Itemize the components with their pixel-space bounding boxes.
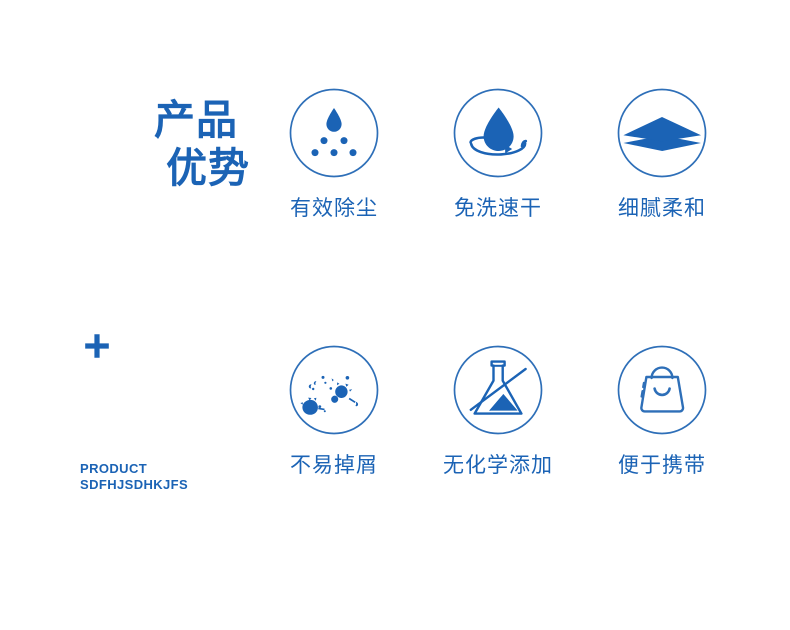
droplet-orbit-icon bbox=[453, 88, 543, 178]
feature-label: 无化学添加 bbox=[428, 453, 568, 479]
product-code: PRODUCT SDFHJSDHKJFS bbox=[80, 461, 188, 493]
feature-label: 有效除尘 bbox=[264, 196, 404, 222]
feature-label: 细腻柔和 bbox=[592, 196, 732, 222]
droplet-dots-icon bbox=[289, 88, 379, 178]
feature-label: 便于携带 bbox=[592, 453, 732, 479]
stacked-sheets-icon bbox=[617, 88, 707, 178]
feature-label: 免洗速干 bbox=[428, 196, 568, 222]
feature-label: 不易掉屑 bbox=[264, 453, 404, 479]
feature-portable: 便于携带 bbox=[592, 345, 732, 479]
feature-no-chemicals: 无化学添加 bbox=[428, 345, 568, 479]
handbag-icon bbox=[617, 345, 707, 435]
page-title: 产品 优势 bbox=[152, 96, 262, 192]
product-code-line-2: SDFHJSDHKJFS bbox=[80, 477, 188, 493]
product-advantages-banner: 产品 优势 PRODUCT SDFHJSDHKJFS bbox=[0, 0, 790, 630]
page-title-line-1: 产品 bbox=[152, 96, 262, 144]
feature-no-lint: 不易掉屑 bbox=[264, 345, 404, 479]
page-title-line-2: 优势 bbox=[152, 144, 262, 192]
feature-quick-dry: 免洗速干 bbox=[428, 88, 568, 222]
feature-soft-texture: 细腻柔和 bbox=[592, 88, 732, 222]
plus-icon bbox=[82, 331, 112, 361]
no-flask-icon bbox=[453, 345, 543, 435]
feature-dust-removal: 有效除尘 bbox=[264, 88, 404, 222]
product-code-line-1: PRODUCT bbox=[80, 461, 188, 477]
lint-scatter-icon bbox=[289, 345, 379, 435]
